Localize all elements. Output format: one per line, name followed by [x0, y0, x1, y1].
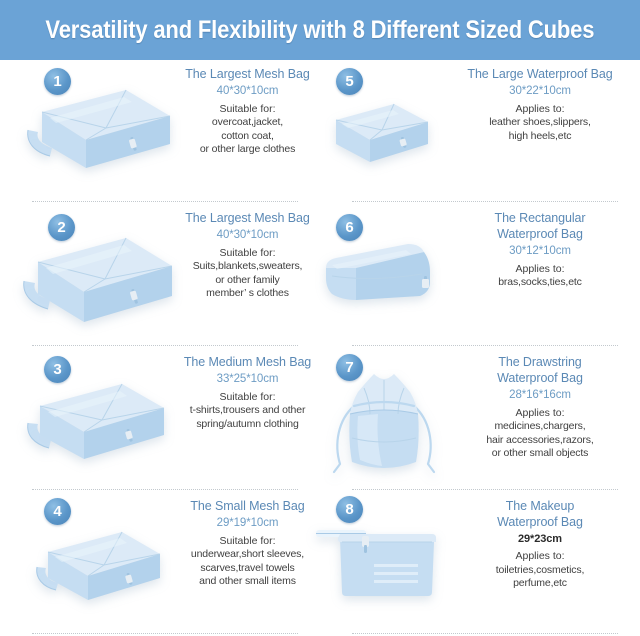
item-number-badge: 7: [336, 354, 363, 381]
item-text-7: The Drawstring Waterproof Bag 28*16*16cm…: [440, 348, 640, 460]
product-item-5: 5 The Large Waterproof Bag 30*22: [320, 60, 640, 204]
item-title: The Largest Mesh Bag: [175, 66, 320, 82]
item-number-badge: 5: [336, 68, 363, 95]
item-title: The Small Mesh Bag: [175, 498, 320, 514]
item-title-line2: Waterproof Bag: [440, 514, 640, 530]
item-number-badge: 3: [44, 356, 71, 383]
item-text-1: The Largest Mesh Bag 40*30*10cm Suitable…: [175, 60, 320, 156]
right-column: 5 The Large Waterproof Bag 30*22: [320, 60, 640, 636]
item-content-line: or other family: [175, 274, 320, 287]
item-dimensions: 40*30*10cm: [175, 84, 320, 99]
product-item-6: 6 The Rectangular W: [320, 204, 640, 348]
page-header: Versatility and Flexibility with 8 Diffe…: [0, 0, 640, 60]
item-text-5: The Large Waterproof Bag 30*22*10cm Appl…: [440, 60, 640, 143]
item-content-line: Suits,blankets,sweaters,: [175, 260, 320, 273]
item-number-badge: 4: [44, 498, 71, 525]
item-text-2: The Largest Mesh Bag 40*30*10cm Suitable…: [175, 204, 320, 300]
bag-illustration-3: [0, 348, 175, 492]
item-title: The Rectangular Waterproof Bag: [440, 210, 640, 242]
item-lead: Applies to:: [440, 407, 640, 420]
item-content-line: underwear,short sleeves,: [175, 548, 320, 561]
item-number-badge: 8: [336, 496, 363, 523]
item-dimensions: 30*22*10cm: [440, 84, 640, 99]
item-lead: Suitable for:: [175, 103, 320, 116]
item-title: The Largest Mesh Bag: [175, 210, 320, 226]
item-text-6: The Rectangular Waterproof Bag 30*12*10c…: [440, 204, 640, 290]
item-content-line: perfume,etc: [440, 577, 640, 590]
item-text-3: The Medium Mesh Bag 33*25*10cm Suitable …: [175, 348, 320, 431]
item-title-line1: The Drawstring: [498, 355, 581, 369]
item-title: The Large Waterproof Bag: [440, 66, 640, 82]
item-text-8: The Makeup Waterproof Bag 29*23cm Applie…: [440, 492, 640, 590]
item-content-line: spring/autumn clothing: [175, 418, 320, 431]
bag-illustration-4: [0, 492, 175, 636]
item-content-line: member’ s clothes: [175, 287, 320, 300]
item-title: The Medium Mesh Bag: [175, 354, 320, 370]
item-content-line: cotton coat,: [175, 130, 320, 143]
item-content-line: toiletries,cosmetics,: [440, 564, 640, 577]
item-content-line: high heels,etc: [440, 130, 640, 143]
item-lead: Suitable for:: [175, 247, 320, 260]
item-content-line: and other small items: [175, 575, 320, 588]
left-column: 1 The Largest: [0, 60, 320, 636]
product-grid: 1 The Largest: [0, 60, 640, 636]
item-lead: Applies to:: [440, 550, 640, 563]
item-title-line2: Waterproof Bag: [440, 370, 640, 386]
item-title: The Makeup Waterproof Bag: [440, 498, 640, 530]
bag-illustration-2: [0, 204, 175, 348]
item-title-line1: The Rectangular: [495, 211, 586, 225]
item-number-badge: 6: [336, 214, 363, 241]
page-title: Versatility and Flexibility with 8 Diffe…: [46, 16, 595, 45]
item-content-line: or other small objects: [440, 447, 640, 460]
item-title: The Drawstring Waterproof Bag: [440, 354, 640, 386]
item-title-line2: Waterproof Bag: [440, 226, 640, 242]
item-content-line: medicines,chargers,: [440, 420, 640, 433]
item-dimensions: 29*19*10cm: [175, 516, 320, 531]
product-item-8: 8: [320, 492, 640, 636]
item-dimensions: 40*30*10cm: [175, 228, 320, 243]
item-content-line: leather shoes,slippers,: [440, 116, 640, 129]
item-dimensions: 29*23cm: [440, 532, 640, 546]
item-lead: Applies to:: [440, 263, 640, 276]
item-content-line: t-shirts,trousers and other: [175, 404, 320, 417]
item-title-line1: The Makeup: [506, 499, 574, 513]
item-dimensions: 33*25*10cm: [175, 372, 320, 387]
product-item-7: 7 T: [320, 348, 640, 492]
item-lead: Suitable for:: [175, 391, 320, 404]
item-text-4: The Small Mesh Bag 29*19*10cm Suitable f…: [175, 492, 320, 588]
item-lead: Applies to:: [440, 103, 640, 116]
item-number-badge: 2: [48, 214, 75, 241]
item-content-line: overcoat,jacket,: [175, 116, 320, 129]
item-content-line: bras,socks,ties,etc: [440, 276, 640, 289]
product-item-1: 1 The Largest: [0, 60, 320, 204]
item-dimensions: 28*16*16cm: [440, 388, 640, 403]
item-content-line: scarves,travel towels: [175, 562, 320, 575]
item-lead: Suitable for:: [175, 535, 320, 548]
item-dimensions: 30*12*10cm: [440, 244, 640, 259]
item-content-line: or other large clothes: [175, 143, 320, 156]
product-item-3: 3 The Medium M: [0, 348, 320, 492]
product-item-4: 4 The Small Me: [0, 492, 320, 636]
item-number-badge: 1: [44, 68, 71, 95]
item-content-line: hair accessories,razors,: [440, 434, 640, 447]
bag-illustration-1: [0, 60, 175, 204]
product-item-2: 2 The Largest: [0, 204, 320, 348]
